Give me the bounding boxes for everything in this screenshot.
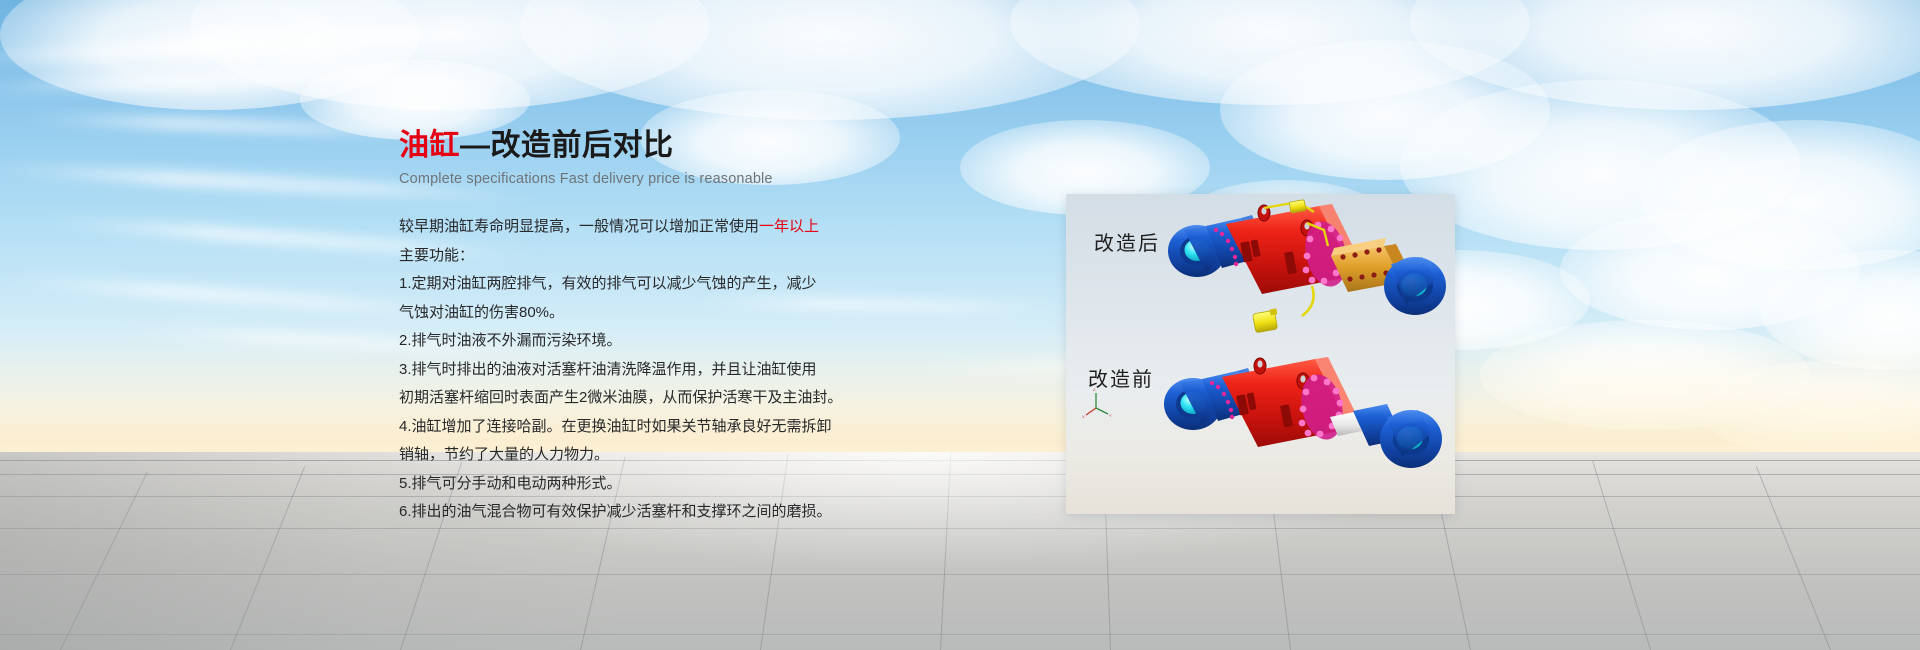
feature-line: 主要功能： [399, 242, 919, 271]
feature-line: 气蚀对油缸的伤害80%。 [399, 299, 919, 328]
feature-line-text: 2.排气时油液不外漏而污染环境。 [399, 332, 622, 349]
tile-seam [1756, 466, 1831, 650]
page-title-rest: —改造前后对比 [460, 129, 674, 162]
svg-text:X: X [1082, 414, 1085, 419]
feature-line-text: 4.油缸增加了连接哈副。在更换油缸时如果关节轴承良好无需拆卸 [399, 418, 832, 435]
horizon-haze [0, 330, 1920, 470]
feature-line: 3.排气时排出的油液对活塞杆油清洗降温作用，并且让油缸使用 [399, 356, 919, 385]
tile-seam [60, 472, 148, 650]
feature-line-text: 较早期油缸寿命明显提高，一般情况可以增加正常使用 [399, 218, 759, 235]
cylinder-before [1164, 357, 1442, 468]
copy-block: 油缸—改造前后对比 Complete specifications Fast d… [399, 128, 919, 527]
feature-line-text: 主要功能： [399, 247, 474, 264]
page-title: 油缸—改造前后对比 [399, 128, 919, 164]
label-after: 改造后 [1094, 227, 1160, 256]
cylinder-after [1168, 200, 1446, 334]
feature-list: 较早期油缸寿命明显提高，一般情况可以增加正常使用一年以上 主要功能： 1.定期对… [399, 213, 919, 527]
clevis-right-after [1384, 257, 1446, 315]
vent-block-top [1289, 200, 1306, 213]
feature-line-text: 6.排出的油气混合物可有效保护减少活塞杆和支撑环之间的磨损。 [399, 503, 832, 520]
feature-line-text: 3.排气时排出的油液对活塞杆油清洗降温作用，并且让油缸使用 [399, 361, 817, 378]
feature-line: 4.油缸增加了连接哈副。在更换油缸时如果关节轴承良好无需拆卸 [399, 413, 919, 442]
feature-line: 6.排出的油气混合物可有效保护减少活塞杆和支撑环之间的磨损。 [399, 498, 919, 527]
feature-line-text: 气蚀对油缸的伤害80%。 [399, 304, 564, 321]
tile-seam [1592, 461, 1651, 650]
ground-highlight [0, 452, 1920, 650]
feature-line: 销轴，节约了大量的人力物力。 [399, 441, 919, 470]
feature-line: 1.定期对油缸两腔排气，有效的排气可以减少气蚀的产生，减少 [399, 270, 919, 299]
feature-line-text: 1.定期对油缸两腔排气，有效的排气可以减少气蚀的产生，减少 [399, 275, 817, 292]
hero-banner: 油缸—改造前后对比 Complete specifications Fast d… [0, 0, 1920, 650]
tile-seam [940, 452, 951, 650]
tile-seam [230, 466, 305, 650]
page-title-accent: 油缸 [399, 129, 460, 162]
ground-plane [0, 452, 1920, 650]
feature-line-highlight: 一年以上 [759, 218, 819, 235]
feature-line-text: 初期活塞杆缩回时表面产生2微米油膜，从而保护活寒干及主油封。 [399, 389, 842, 406]
page-subtitle: Complete specifications Fast delivery pr… [399, 171, 919, 187]
feature-line: 初期活塞杆缩回时表面产生2微米油膜，从而保护活寒干及主油封。 [399, 384, 919, 413]
product-image-panel: Z X Y 改造后 改造前 [1066, 194, 1455, 514]
feature-line-text: 5.排气可分手动和电动两种形式。 [399, 475, 622, 492]
clevis-right-before [1380, 410, 1442, 468]
svg-text:Y: Y [1109, 413, 1112, 418]
feature-line-text: 销轴，节约了大量的人力物力。 [399, 446, 609, 463]
feature-line: 5.排气可分手动和电动两种形式。 [399, 470, 919, 499]
feature-line: 2.排气时油液不外漏而污染环境。 [399, 327, 919, 356]
vent-valve [1252, 286, 1313, 334]
label-before: 改造前 [1088, 363, 1154, 392]
feature-line: 较早期油缸寿命明显提高，一般情况可以增加正常使用一年以上 [399, 213, 919, 242]
